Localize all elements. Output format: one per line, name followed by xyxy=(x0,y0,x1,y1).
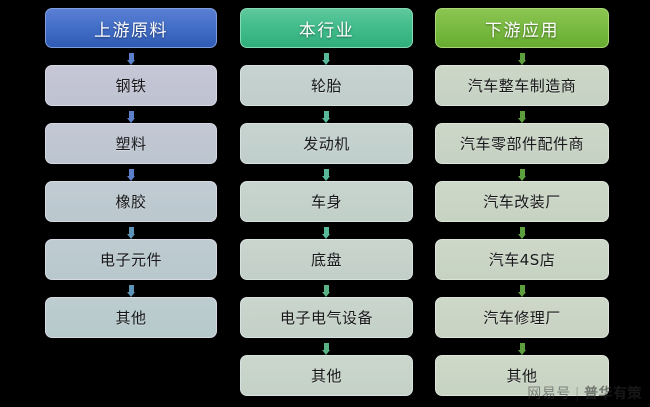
connector-arrow-down-icon xyxy=(240,338,413,355)
chain-node: 汽车改装厂 xyxy=(435,181,609,222)
chain-node: 电子元件 xyxy=(45,239,217,280)
connector-arrow-down-icon xyxy=(240,222,413,239)
connector-arrow-down-icon xyxy=(435,106,609,123)
chain-node: 底盘 xyxy=(240,239,413,280)
chain-node: 其他 xyxy=(240,355,413,396)
chain-node: 汽车整车制造商 xyxy=(435,65,609,106)
chain-node: 电子电气设备 xyxy=(240,297,413,338)
connector-arrow-down-icon xyxy=(45,222,217,239)
chain-node: 汽车零部件配件商 xyxy=(435,123,609,164)
column-header-upstream: 上游原料 xyxy=(45,8,217,48)
connector-arrow-down-icon xyxy=(435,280,609,297)
connector-arrow-down-icon xyxy=(435,222,609,239)
chain-node: 钢铁 xyxy=(45,65,217,106)
chain-node: 汽车4S店 xyxy=(435,239,609,280)
connector-arrow-down-icon xyxy=(240,164,413,181)
connector-arrow-down-icon xyxy=(45,280,217,297)
connector-arrow-down-icon xyxy=(45,164,217,181)
chain-node: 轮胎 xyxy=(240,65,413,106)
column-header-industry: 本行业 xyxy=(240,8,413,48)
connector-arrow-down-icon xyxy=(435,48,609,65)
connector-arrow-down-icon xyxy=(240,106,413,123)
connector-arrow-down-icon xyxy=(435,338,609,355)
chain-node: 发动机 xyxy=(240,123,413,164)
chain-node: 橡胶 xyxy=(45,181,217,222)
chain-column-downstream: 下游应用 汽车整车制造商 汽车零部件配件商 汽车改装厂 汽车4S店 汽车修理厂 … xyxy=(435,8,609,396)
value-chain-diagram: 上游原料 钢铁 塑料 橡胶 电子元件 其他 本行业 轮胎 发动机 车身 底盘 电… xyxy=(0,0,650,407)
chain-node: 其他 xyxy=(435,355,609,396)
connector-arrow-down-icon xyxy=(240,48,413,65)
chain-node: 塑料 xyxy=(45,123,217,164)
chain-column-upstream: 上游原料 钢铁 塑料 橡胶 电子元件 其他 xyxy=(45,8,217,338)
chain-node: 车身 xyxy=(240,181,413,222)
chain-node: 汽车修理厂 xyxy=(435,297,609,338)
connector-arrow-down-icon xyxy=(435,164,609,181)
connector-arrow-down-icon xyxy=(240,280,413,297)
connector-arrow-down-icon xyxy=(45,48,217,65)
connector-arrow-down-icon xyxy=(45,106,217,123)
chain-node: 其他 xyxy=(45,297,217,338)
chain-column-industry: 本行业 轮胎 发动机 车身 底盘 电子电气设备 其他 xyxy=(240,8,413,396)
column-header-downstream: 下游应用 xyxy=(435,8,609,48)
